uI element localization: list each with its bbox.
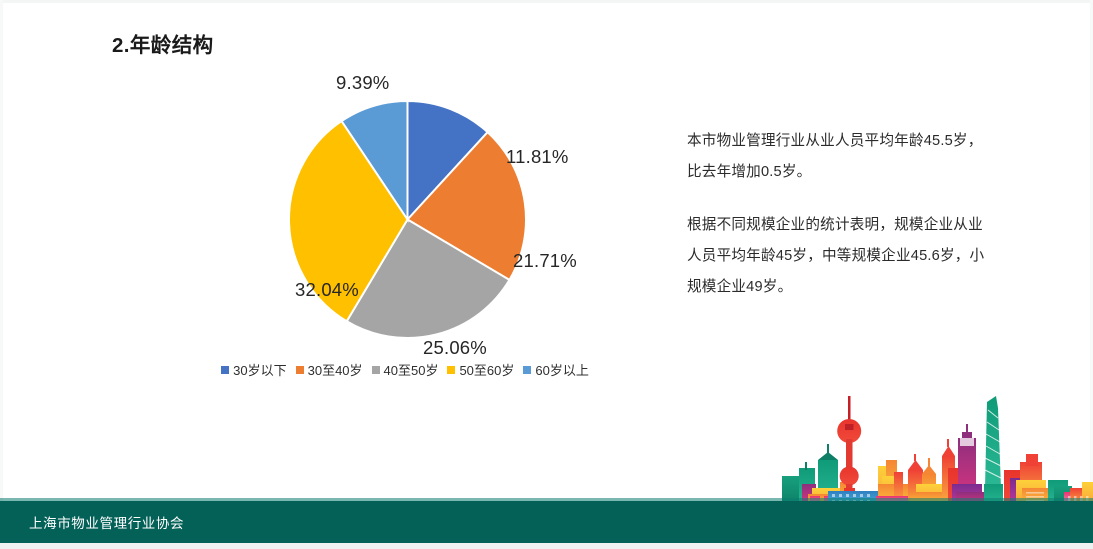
legend-swatch-icon [221, 366, 229, 374]
legend-item[interactable]: 40至50岁 [372, 360, 439, 379]
legend-swatch-icon [447, 366, 455, 374]
chart-legend: 30岁以下30至40岁40至50岁50至60岁60岁以上 [175, 360, 635, 379]
page-title: 2.年龄结构 [112, 28, 214, 58]
description-paragraph-2: 根据不同规模企业的统计表明，规模企业从业人员平均年龄45岁，中等规模企业45.6… [687, 210, 987, 303]
legend-item[interactable]: 50至60岁 [447, 360, 514, 379]
legend-label: 30至40岁 [308, 360, 363, 379]
legend-label: 60岁以上 [535, 360, 588, 379]
shanghai-skyline-icon [782, 384, 1093, 506]
pie-graphic [288, 100, 527, 339]
legend-label: 50至60岁 [459, 360, 514, 379]
pie-label-50-60: 32.04% [295, 279, 359, 301]
legend-item[interactable]: 60岁以上 [523, 360, 588, 379]
legend-label: 40至50岁 [384, 360, 439, 379]
slide-top-edge [0, 0, 1093, 3]
pie-label-30-40: 21.71% [513, 250, 577, 272]
pie-label-30-under: 11.81% [506, 146, 569, 168]
pie-label-40-50: 25.06% [423, 337, 487, 359]
footer-organization-label: 上海市物业管理行业协会 [29, 512, 184, 532]
legend-swatch-icon [296, 366, 304, 374]
description-text: 本市物业管理行业从业人员平均年龄45.5岁，比去年增加0.5岁。 根据不同规模企… [687, 126, 987, 303]
legend-label: 30岁以下 [233, 360, 286, 379]
description-paragraph-1: 本市物业管理行业从业人员平均年龄45.5岁，比去年增加0.5岁。 [687, 126, 987, 188]
slide-canvas: 2.年龄结构 11.81% 21.71% 25.06% 32.04% 9.39%… [0, 0, 1093, 549]
pie-label-60-over: 9.39% [336, 72, 389, 94]
legend-swatch-icon [523, 366, 531, 374]
footer-underline [0, 543, 1093, 549]
footer-bar: 上海市物业管理行业协会 [0, 501, 1093, 543]
legend-item[interactable]: 30至40岁 [296, 360, 363, 379]
legend-item[interactable]: 30岁以下 [221, 360, 286, 379]
legend-swatch-icon [372, 366, 380, 374]
pie-chart: 11.81% 21.71% 25.06% 32.04% 9.39% 30岁以下3… [175, 60, 635, 390]
slide-left-edge [0, 0, 3, 549]
